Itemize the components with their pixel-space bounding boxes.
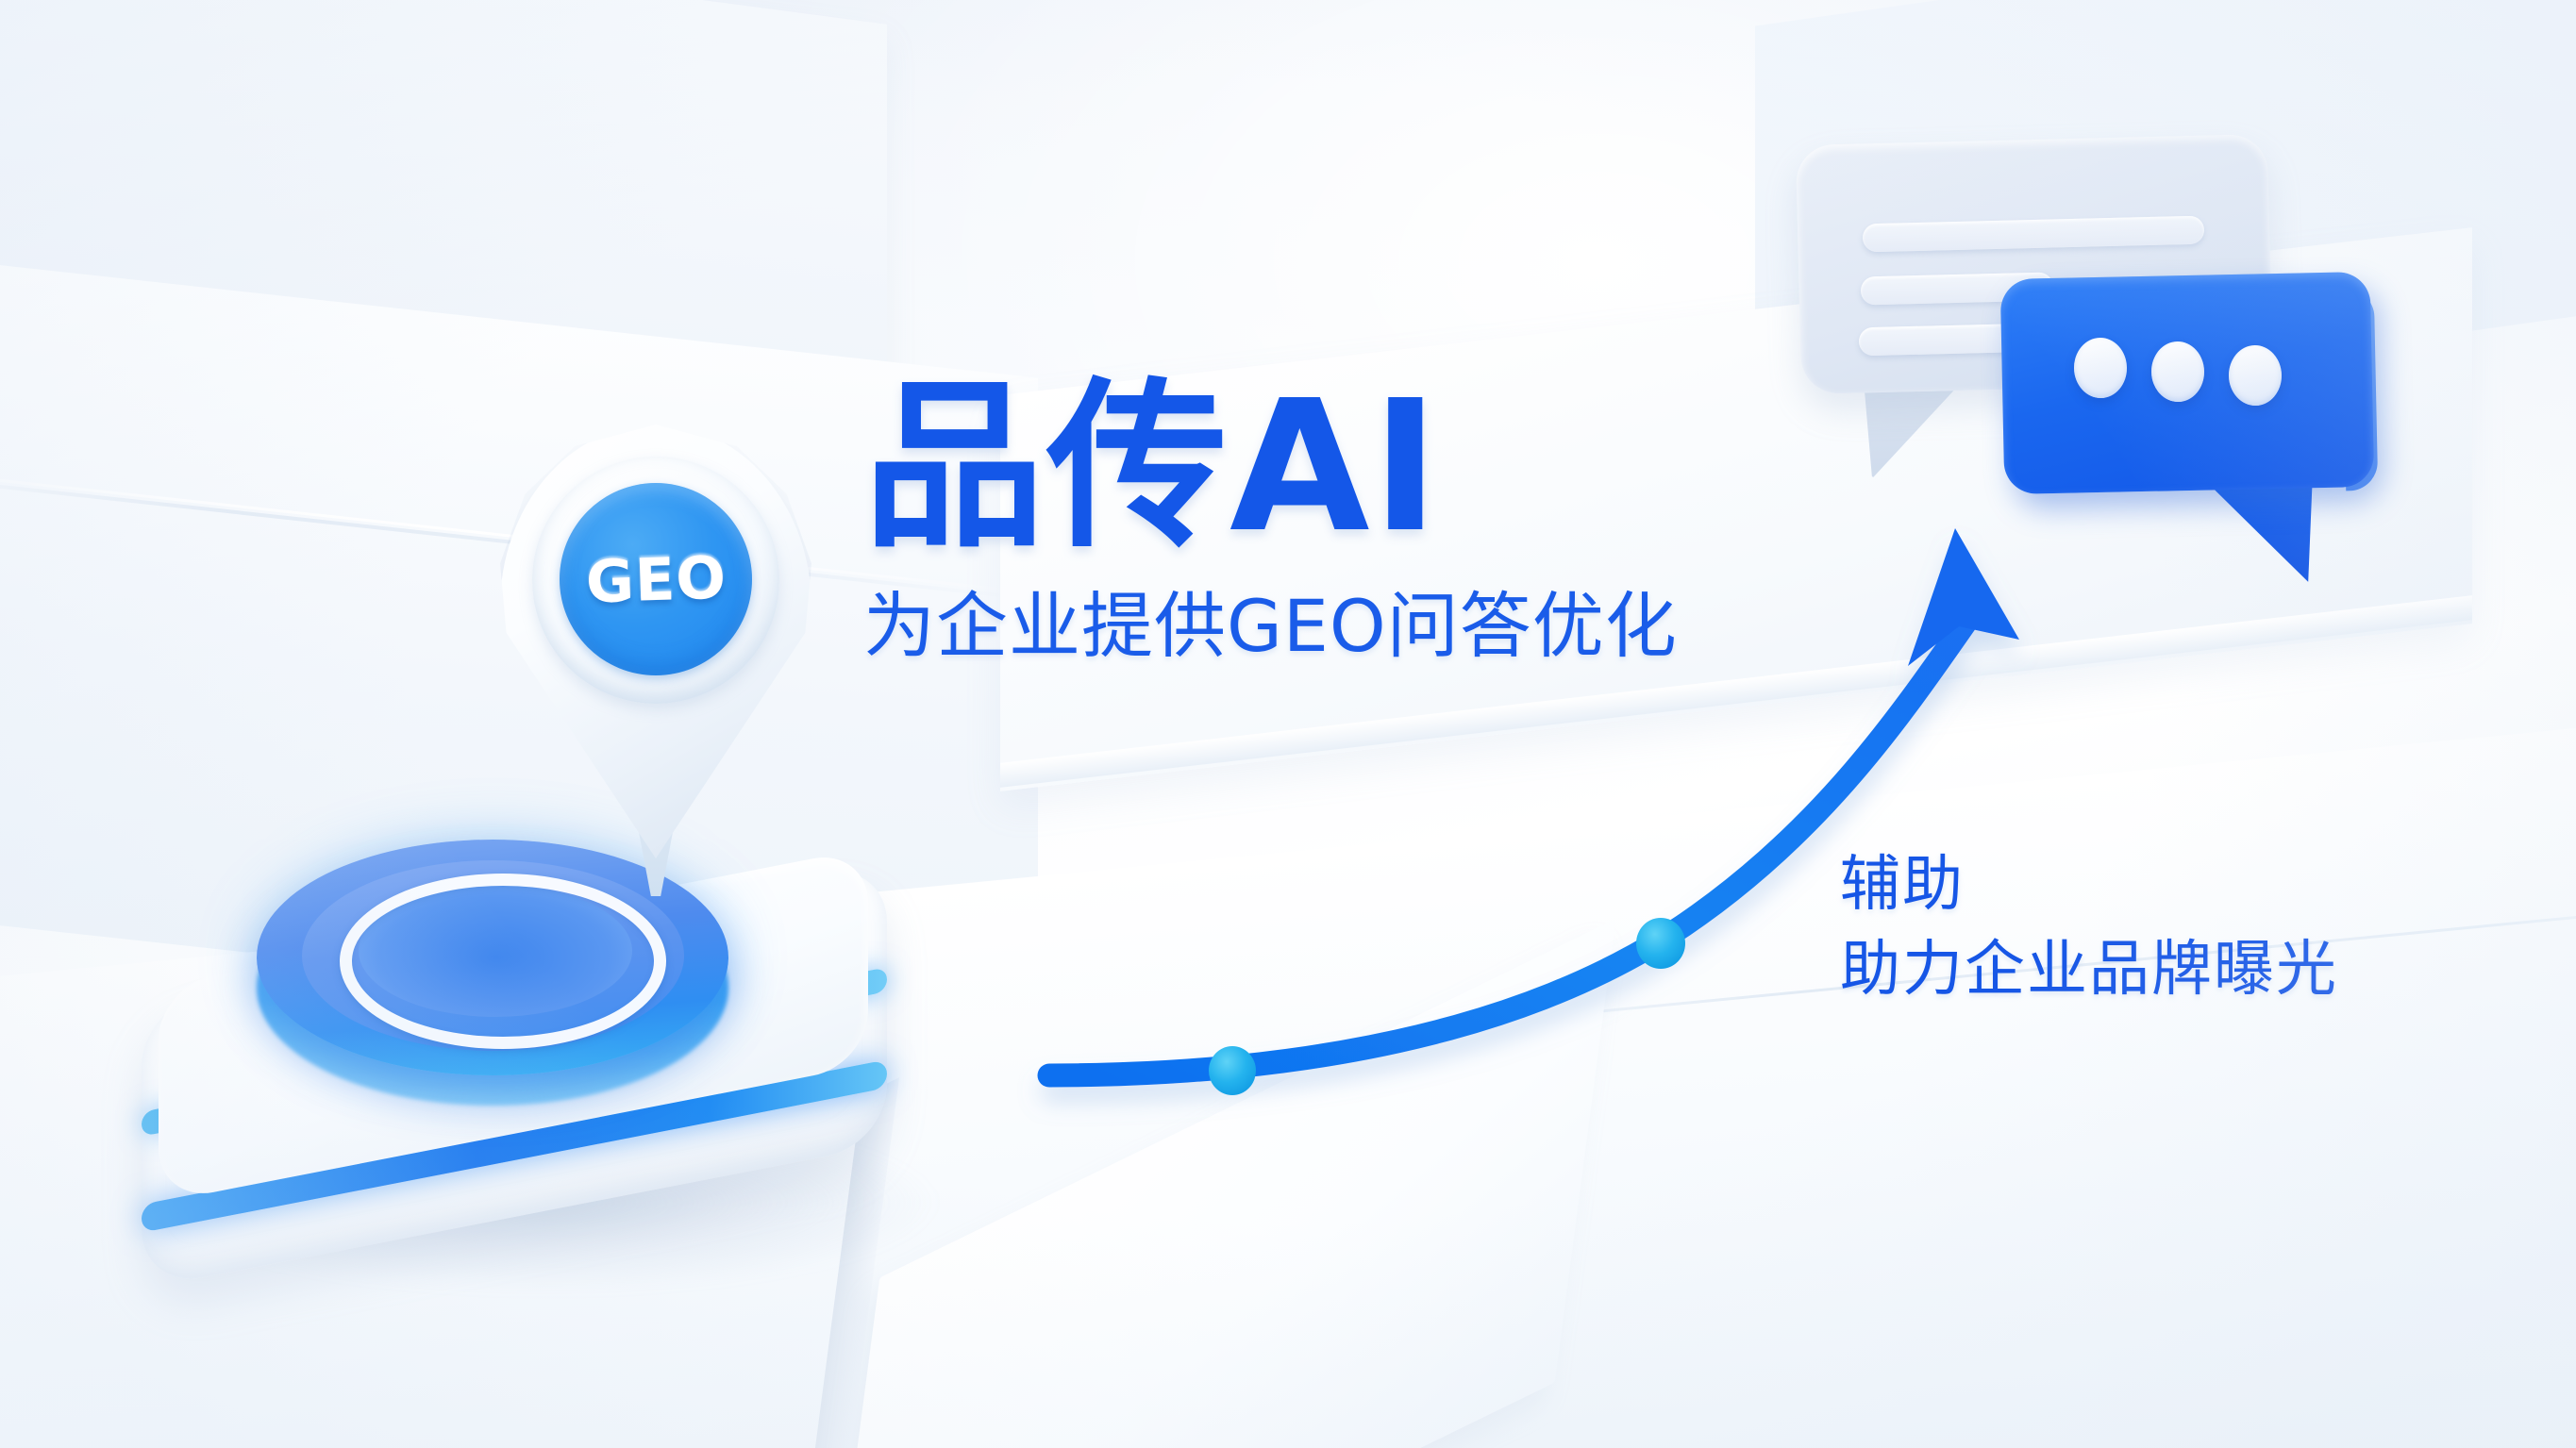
caption-line-1: 辅助 bbox=[1840, 854, 2501, 918]
arrow-marker-dot-2 bbox=[1636, 918, 1685, 969]
page-subtitle: 为企业提供GEO问答优化 bbox=[863, 591, 1864, 662]
title-block: 品传AI 为企业提供GEO问答优化 bbox=[863, 377, 1864, 662]
hero-banner: GEO 品传AI 为企 bbox=[0, 0, 2576, 1448]
page-title: 品传AI bbox=[863, 377, 1864, 558]
caption-line-2: 助力企业品牌曝光 bbox=[1840, 939, 2501, 1003]
geo-pedestal: GEO bbox=[142, 830, 972, 1273]
arrow-marker-dot-1 bbox=[1209, 1046, 1256, 1095]
pin-geo-label: GEO bbox=[584, 542, 727, 616]
geo-location-pin-icon: GEO bbox=[500, 424, 811, 915]
pin-face: GEO bbox=[560, 483, 752, 675]
caption-block: 辅助 助力企业品牌曝光 bbox=[1840, 854, 2501, 1003]
